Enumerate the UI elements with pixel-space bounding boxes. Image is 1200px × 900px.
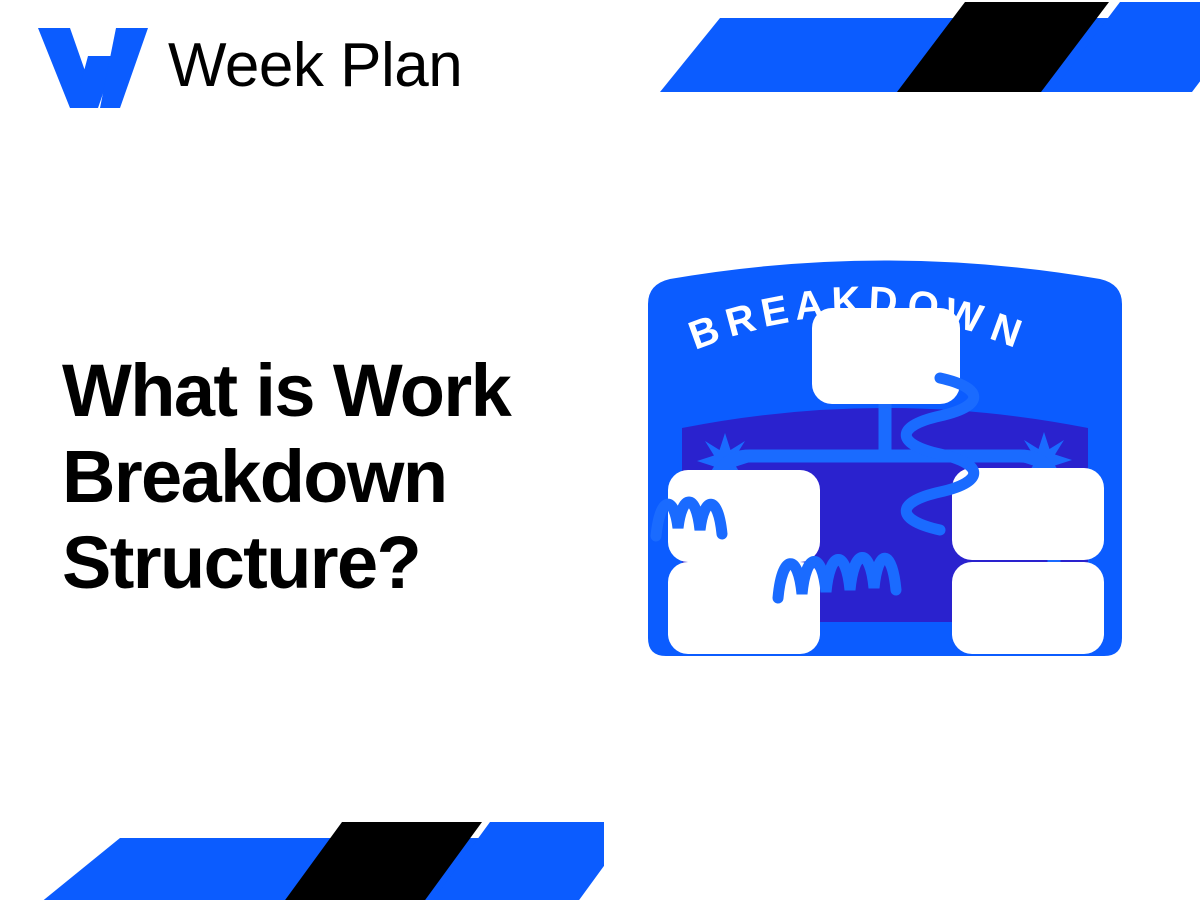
- slide-canvas: Week Plan What is Work Breakdown Structu…: [0, 0, 1200, 900]
- bottom-banner-stripe-black: [272, 822, 482, 900]
- top-banner-stripe-blue-1: [660, 18, 1200, 92]
- bottom-banner: [24, 806, 604, 900]
- brand-name: Week Plan: [168, 35, 462, 97]
- brand-logo[interactable]: Week Plan: [36, 24, 462, 108]
- top-banner-stripe-blue-2: [1052, 2, 1200, 92]
- bottom-banner-stripe-blue-1: [24, 838, 604, 900]
- top-banner: [652, 0, 1200, 100]
- bottom-banner-stripe-blue-2: [420, 822, 604, 900]
- week-plan-w-logo-icon: [36, 24, 148, 108]
- root-node: [812, 308, 960, 404]
- left-middle-node: [668, 470, 820, 562]
- hero-illustration: B R E A K D O W N: [640, 246, 1130, 666]
- top-banner-stripe-black: [897, 2, 1109, 92]
- right-bottom-node: [952, 562, 1104, 654]
- page-title: What is Work Breakdown Structure?: [62, 348, 622, 606]
